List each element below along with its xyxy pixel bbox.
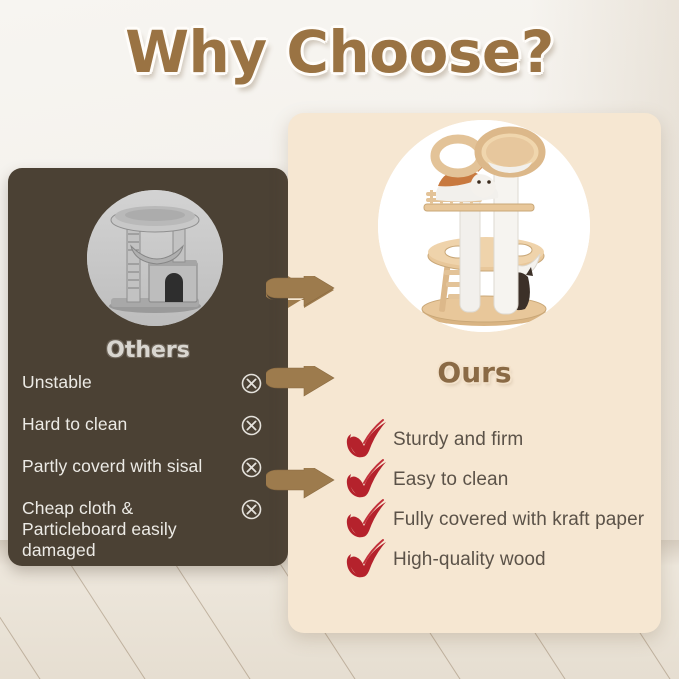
infographic-canvas: Why Choose? [0, 0, 679, 679]
others-list-item: Hard to clean [8, 414, 288, 446]
others-item-label: Unstable [22, 372, 242, 393]
others-product-image [87, 190, 223, 326]
check-brush-icon [345, 498, 389, 540]
others-label: Others [8, 338, 288, 363]
arrow-2-icon [266, 366, 340, 406]
ours-item-label: Sturdy and firm [393, 429, 523, 451]
check-brush-icon [345, 538, 389, 580]
x-circle-icon [241, 373, 262, 394]
ours-benefit-list: Sturdy and firmEasy to cleanFully covere… [345, 420, 661, 580]
others-list-item: Cheap cloth &Particleboard easily damage… [8, 498, 288, 561]
ours-list-item: Fully covered with kraft paper [345, 500, 661, 540]
ours-item-label: Fully covered with kraft paper [393, 509, 644, 531]
check-brush-icon [345, 418, 389, 460]
x-circle-icon [241, 499, 262, 520]
others-item-label: Hard to clean [22, 414, 242, 435]
ours-list-item: High-quality wood [345, 540, 661, 580]
others-item-label: Partly coverd with sisal [22, 456, 242, 477]
arrow-1-icon [266, 276, 340, 316]
ours-product-image [378, 120, 590, 332]
ours-item-label: Easy to clean [393, 469, 508, 491]
others-item-label: Cheap cloth &Particleboard easily damage… [22, 498, 242, 561]
x-circle-icon [241, 457, 262, 478]
others-drawback-list: UnstableHard to cleanPartly coverd with … [8, 372, 288, 571]
others-list-item: Partly coverd with sisal [8, 456, 288, 488]
x-circle-icon [241, 415, 262, 436]
ours-list-item: Easy to clean [345, 460, 661, 500]
check-brush-icon [345, 458, 389, 500]
page-title: Why Choose? [0, 18, 679, 86]
ours-item-label: High-quality wood [393, 549, 546, 571]
arrow-3-icon [266, 468, 340, 508]
ours-list-item: Sturdy and firm [345, 420, 661, 460]
ours-label: Ours [288, 356, 661, 389]
others-list-item: Unstable [8, 372, 288, 404]
